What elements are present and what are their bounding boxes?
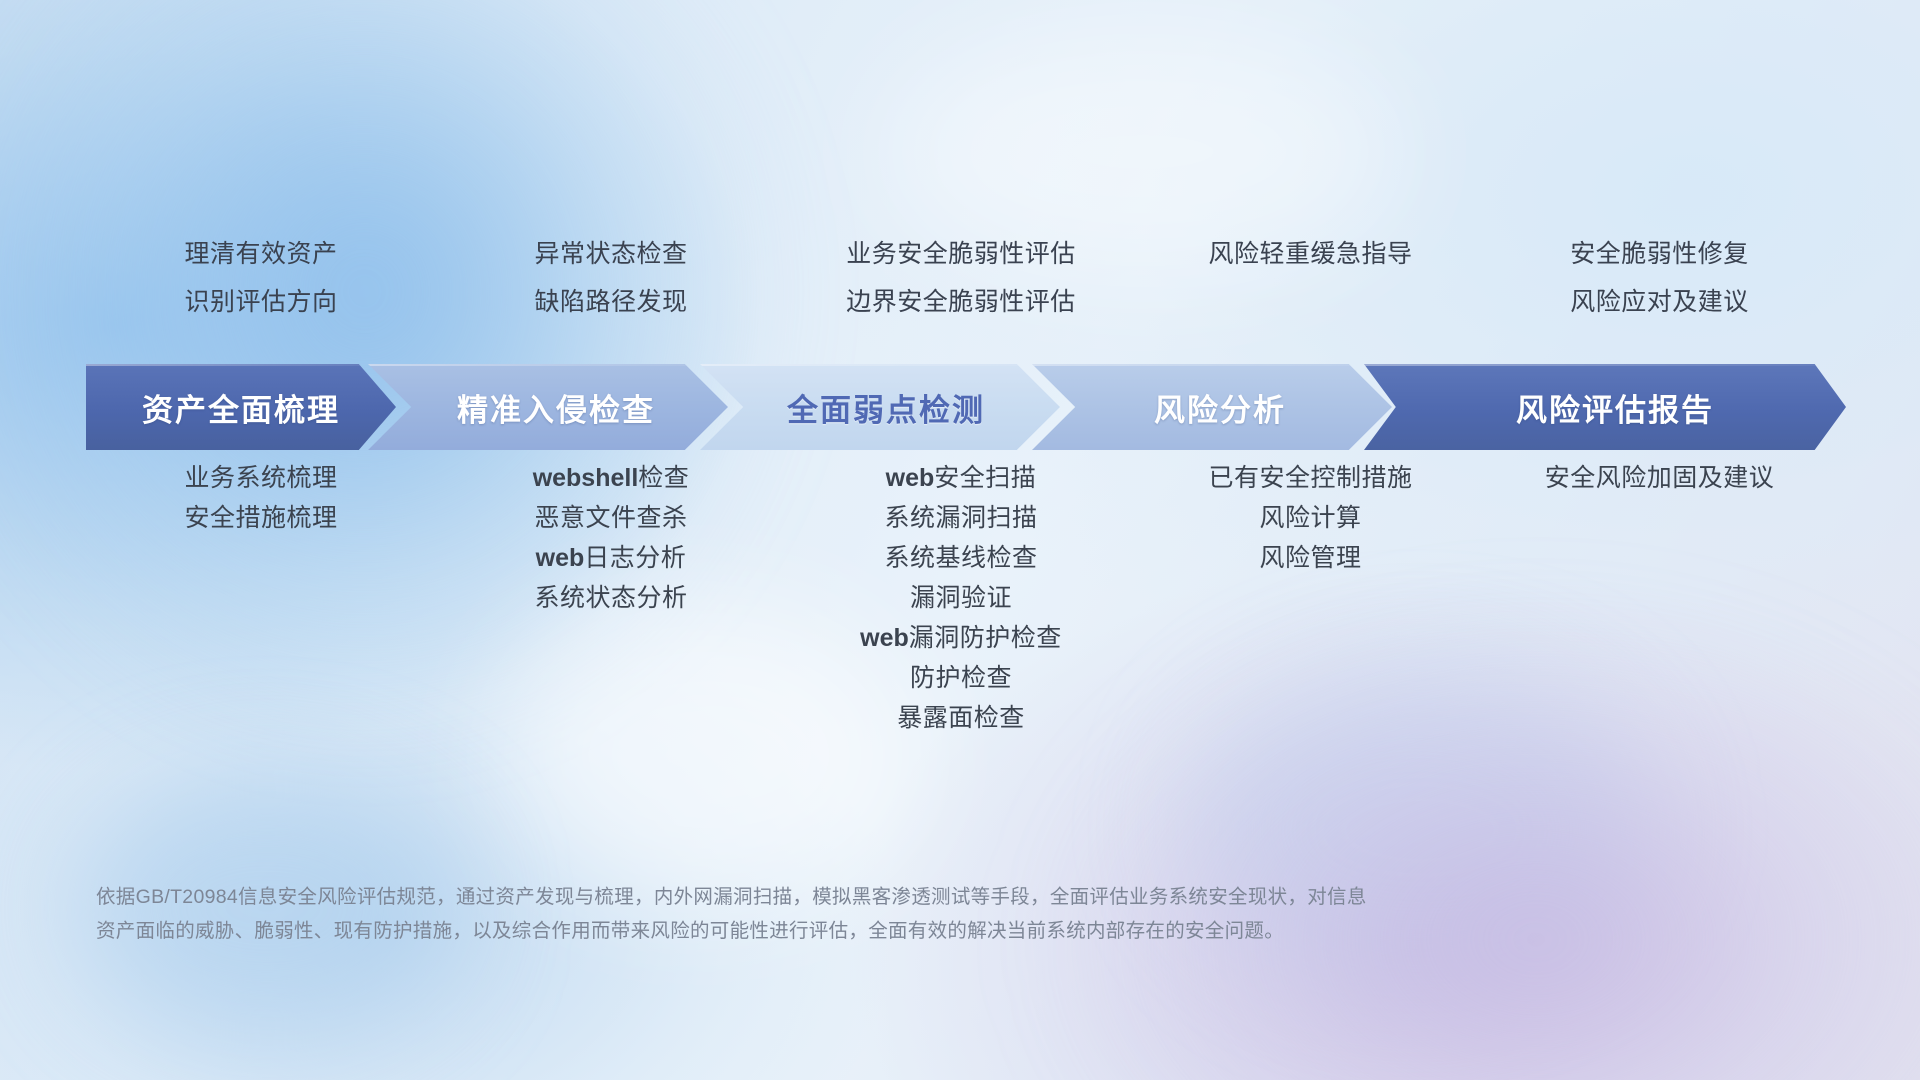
- bottom-list-item-prefix: web: [536, 544, 585, 572]
- top-label-item: 安全脆弱性修复: [1485, 230, 1834, 278]
- bottom-list-item-text: 检查: [638, 464, 689, 492]
- stage-top-labels-weakness-detection: 业务安全脆弱性评估边界安全脆弱性评估: [786, 230, 1136, 326]
- bottom-list-item: webshell检查: [436, 458, 786, 498]
- stage-chevron-intrusion-check[interactable]: 精准入侵检查: [368, 364, 728, 450]
- footer-line-2: 资产面临的威胁、脆弱性、现有防护措施，以及综合作用而带来风险的可能性进行评估，全…: [96, 914, 1616, 948]
- stage-bottom-list-asset-inventory: 业务系统梳理安全措施梳理: [86, 452, 436, 738]
- top-label-item: 缺陷路径发现: [436, 278, 786, 326]
- bottom-list-item: 系统漏洞扫描: [786, 498, 1136, 538]
- top-label-item: 风险轻重缓急指导: [1136, 230, 1485, 278]
- stage-title-weakness-detection: 全面弱点检测: [787, 385, 985, 430]
- footer-line-1: 依据GB/T20984信息安全风险评估规范，通过资产发现与梳理，内外网漏洞扫描，…: [96, 880, 1616, 914]
- bottom-list-item: 暴露面检查: [786, 698, 1136, 738]
- stage-top-labels-asset-inventory: 理清有效资产识别评估方向: [86, 230, 436, 326]
- bottom-list-item-text: 日志分析: [584, 544, 686, 572]
- stage-title-assessment-report: 风险评估报告: [1516, 385, 1714, 430]
- slide-canvas: 理清有效资产识别评估方向异常状态检查缺陷路径发现业务安全脆弱性评估边界安全脆弱性…: [0, 0, 1920, 1080]
- bottom-list-item: 恶意文件查杀: [436, 498, 786, 538]
- stage-title-asset-inventory: 资产全面梳理: [142, 385, 340, 430]
- bottom-list-item: 业务系统梳理: [86, 458, 436, 498]
- stage-top-labels-intrusion-check: 异常状态检查缺陷路径发现: [436, 230, 786, 326]
- stage-bottom-list-weakness-detection: web安全扫描系统漏洞扫描系统基线检查漏洞验证web漏洞防护检查防护检查暴露面检…: [786, 452, 1136, 738]
- footer-description: 依据GB/T20984信息安全风险评估规范，通过资产发现与梳理，内外网漏洞扫描，…: [96, 880, 1616, 948]
- bottom-list-item-prefix: web: [886, 464, 935, 492]
- stage-chevron-assessment-report[interactable]: 风险评估报告: [1364, 364, 1846, 450]
- top-label-item: 边界安全脆弱性评估: [786, 278, 1136, 326]
- bottom-list-item-prefix: web: [860, 624, 909, 652]
- bottom-list-item: web漏洞防护检查: [786, 618, 1136, 658]
- stage-top-labels-assessment-report: 安全脆弱性修复风险应对及建议: [1485, 230, 1834, 326]
- bottom-list-item: 风险管理: [1136, 538, 1485, 578]
- stage-chevron-weakness-detection[interactable]: 全面弱点检测: [700, 364, 1060, 450]
- stage-bottom-list-intrusion-check: webshell检查恶意文件查杀web日志分析系统状态分析: [436, 452, 786, 738]
- bottom-list-item: 安全措施梳理: [86, 498, 436, 538]
- stage-bottom-list-risk-analysis: 已有安全控制措施风险计算风险管理: [1136, 452, 1485, 738]
- bottom-list-item: 风险计算: [1136, 498, 1485, 538]
- stage-top-labels-risk-analysis: 风险轻重缓急指导: [1136, 230, 1485, 326]
- bottom-list-item-text: 安全扫描: [934, 464, 1036, 492]
- bottom-list-item: web日志分析: [436, 538, 786, 578]
- stage-chevron-asset-inventory[interactable]: 资产全面梳理: [86, 364, 396, 450]
- top-label-item: 理清有效资产: [86, 230, 436, 278]
- bottom-list-item: 漏洞验证: [786, 578, 1136, 618]
- bottom-list-item: 系统基线检查: [786, 538, 1136, 578]
- stage-top-labels-row: 理清有效资产识别评估方向异常状态检查缺陷路径发现业务安全脆弱性评估边界安全脆弱性…: [86, 230, 1834, 326]
- stage-title-intrusion-check: 精准入侵检查: [457, 385, 655, 430]
- stage-chevron-risk-analysis[interactable]: 风险分析: [1032, 364, 1392, 450]
- bottom-list-item-prefix: webshell: [533, 464, 639, 492]
- bottom-list-item: 已有安全控制措施: [1136, 458, 1485, 498]
- process-arrow-banner: 资产全面梳理 精准入侵检查 全面弱点检测 风险分析 风险评估报告: [86, 364, 1846, 450]
- top-label-item: 风险应对及建议: [1485, 278, 1834, 326]
- bottom-list-item: 防护检查: [786, 658, 1136, 698]
- bottom-list-item: 系统状态分析: [436, 578, 786, 618]
- stage-bottom-lists-row: 业务系统梳理安全措施梳理webshell检查恶意文件查杀web日志分析系统状态分…: [86, 452, 1834, 738]
- bottom-list-item: 安全风险加固及建议: [1485, 458, 1834, 498]
- bottom-list-item-text: 漏洞防护检查: [909, 624, 1062, 652]
- top-label-item: 业务安全脆弱性评估: [786, 230, 1136, 278]
- stage-bottom-list-assessment-report: 安全风险加固及建议: [1485, 452, 1834, 738]
- stage-title-risk-analysis: 风险分析: [1154, 385, 1286, 430]
- bottom-list-item: web安全扫描: [786, 458, 1136, 498]
- top-label-item: 识别评估方向: [86, 278, 436, 326]
- top-label-item: 异常状态检查: [436, 230, 786, 278]
